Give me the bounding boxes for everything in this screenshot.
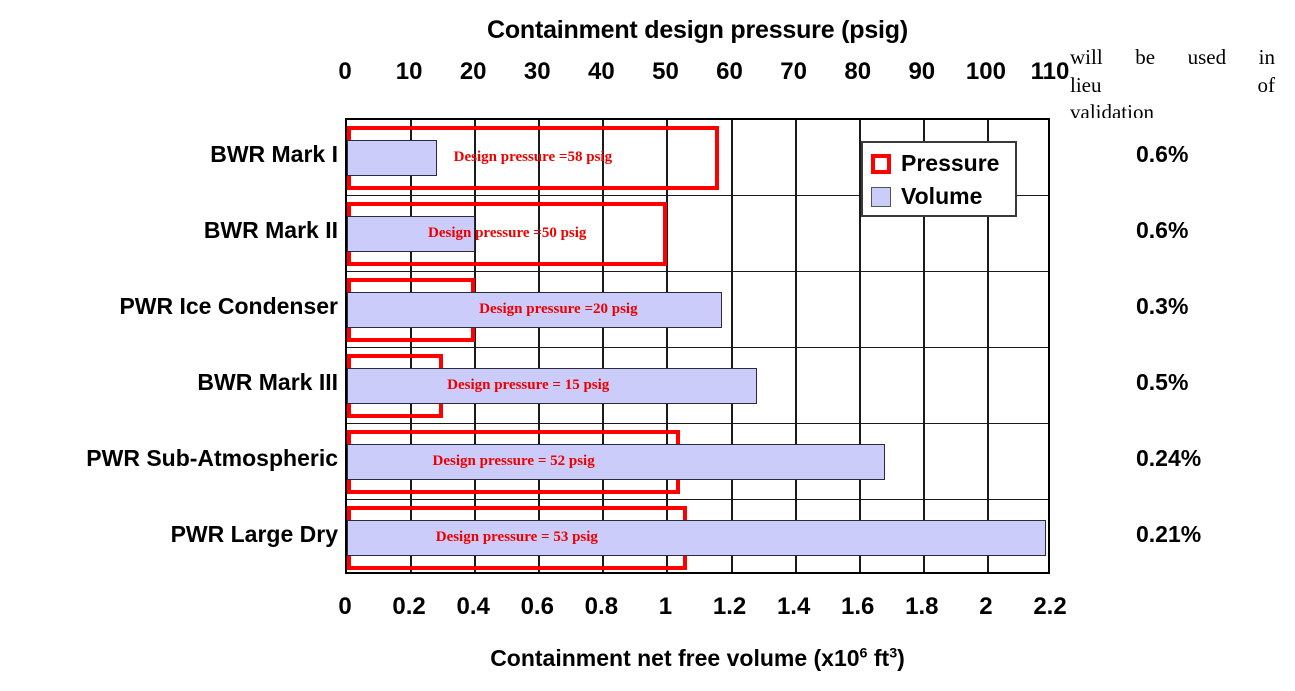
top-axis-tick-0: 0 <box>338 58 351 86</box>
category-label-pwr-large-dry: PWR Large Dry <box>0 521 338 548</box>
bar-row: Design pressure = 52 psig <box>347 424 1048 500</box>
legend-label: Volume <box>901 183 982 210</box>
bottom-axis-tick-1-4: 1.4 <box>777 593 810 621</box>
bar-row: Design pressure = 53 psig <box>347 500 1048 576</box>
bottom-axis-tick-1-8: 1.8 <box>905 593 938 621</box>
top-axis-tick-30: 30 <box>524 58 551 86</box>
bottom-axis-title-pre: Containment net free volume (x10 <box>490 645 859 671</box>
percent-value: 0.5% <box>1136 369 1256 396</box>
bottom-axis-tick-0-4: 0.4 <box>456 593 489 621</box>
bottom-axis-tick-0-2: 0.2 <box>392 593 425 621</box>
overlay-word-in: in <box>1259 44 1275 72</box>
percent-value: 0.6% <box>1136 217 1256 244</box>
top-axis-tick-50: 50 <box>652 58 679 86</box>
category-label-bwr-mark-ii: BWR Mark II <box>0 217 338 244</box>
design-pressure-annotation: Design pressure = 52 psig <box>347 453 680 470</box>
bottom-axis-title-post: ) <box>897 645 905 671</box>
bottom-axis-tick-1-2: 1.2 <box>713 593 746 621</box>
overlay-word-will: will <box>1070 44 1103 72</box>
top-axis-tick-20: 20 <box>460 58 487 86</box>
percent-value: 0.6% <box>1136 141 1256 168</box>
category-label-pwr-sub-atmospheric: PWR Sub-Atmospheric <box>0 445 338 472</box>
volume-swatch-icon <box>871 187 891 207</box>
top-axis-tick-70: 70 <box>780 58 807 86</box>
legend-label: Pressure <box>901 150 999 177</box>
overlay-word-be: be <box>1135 44 1155 72</box>
overlay-word-used: used <box>1188 44 1227 72</box>
design-pressure-annotation: Design pressure = 15 psig <box>447 377 707 394</box>
bottom-axis-tick-2: 2 <box>979 593 992 621</box>
top-axis-tick-90: 90 <box>908 58 935 86</box>
design-pressure-annotation: Design pressure =58 psig <box>347 149 719 166</box>
category-label-bwr-mark-iii: BWR Mark III <box>0 369 338 396</box>
bottom-axis-tick-1: 1 <box>659 593 672 621</box>
pressure-swatch-icon <box>871 154 891 174</box>
bottom-axis-title: Containment net free volume (x106 ft3) <box>345 645 1050 672</box>
chart-legend: PressureVolume <box>861 141 1017 217</box>
percent-value: 0.3% <box>1136 293 1256 320</box>
bottom-axis-tick-1-6: 1.6 <box>841 593 874 621</box>
chart-figure: Containment design pressure (psig) will … <box>0 0 1295 691</box>
bottom-axis-title-mid: ft <box>867 645 889 671</box>
top-axis-tick-10: 10 <box>396 58 423 86</box>
bar-row: Design pressure =20 psig <box>347 272 1048 348</box>
top-axis-tick-110: 110 <box>1031 58 1070 86</box>
percent-value: 0.24% <box>1136 445 1256 472</box>
design-pressure-annotation: Design pressure =50 psig <box>347 225 667 242</box>
bottom-axis-tick-0: 0 <box>338 593 351 621</box>
design-pressure-annotation: Design pressure = 53 psig <box>347 529 687 546</box>
bottom-axis-tick-2-2: 2.2 <box>1033 593 1066 621</box>
design-pressure-annotation: Design pressure =20 psig <box>479 301 739 318</box>
percent-value: 0.21% <box>1136 521 1256 548</box>
bottom-axis-title-exp-3: 3 <box>889 645 897 661</box>
legend-item-pressure: Pressure <box>871 147 1007 180</box>
overlay-word-lieu: lieu <box>1070 72 1102 100</box>
top-axis-tick-60: 60 <box>716 58 743 86</box>
bottom-axis-tick-0-8: 0.8 <box>585 593 618 621</box>
overlay-paragraph: will be used in lieu of validation <box>1070 44 1275 118</box>
category-label-pwr-ice-condenser: PWR Ice Condenser <box>0 293 338 320</box>
overlay-word-validation: validation <box>1070 100 1154 118</box>
top-axis-title: Containment design pressure (psig) <box>345 16 1050 45</box>
top-axis-tick-100: 100 <box>966 58 1006 86</box>
overlay-word-of: of <box>1258 72 1276 100</box>
top-axis-tick-40: 40 <box>588 58 615 86</box>
bottom-axis-tick-0-6: 0.6 <box>521 593 554 621</box>
bar-row: Design pressure = 15 psig <box>347 348 1048 424</box>
legend-item-volume: Volume <box>871 180 1007 213</box>
category-label-bwr-mark-i: BWR Mark I <box>0 141 338 168</box>
top-axis-tick-80: 80 <box>844 58 871 86</box>
